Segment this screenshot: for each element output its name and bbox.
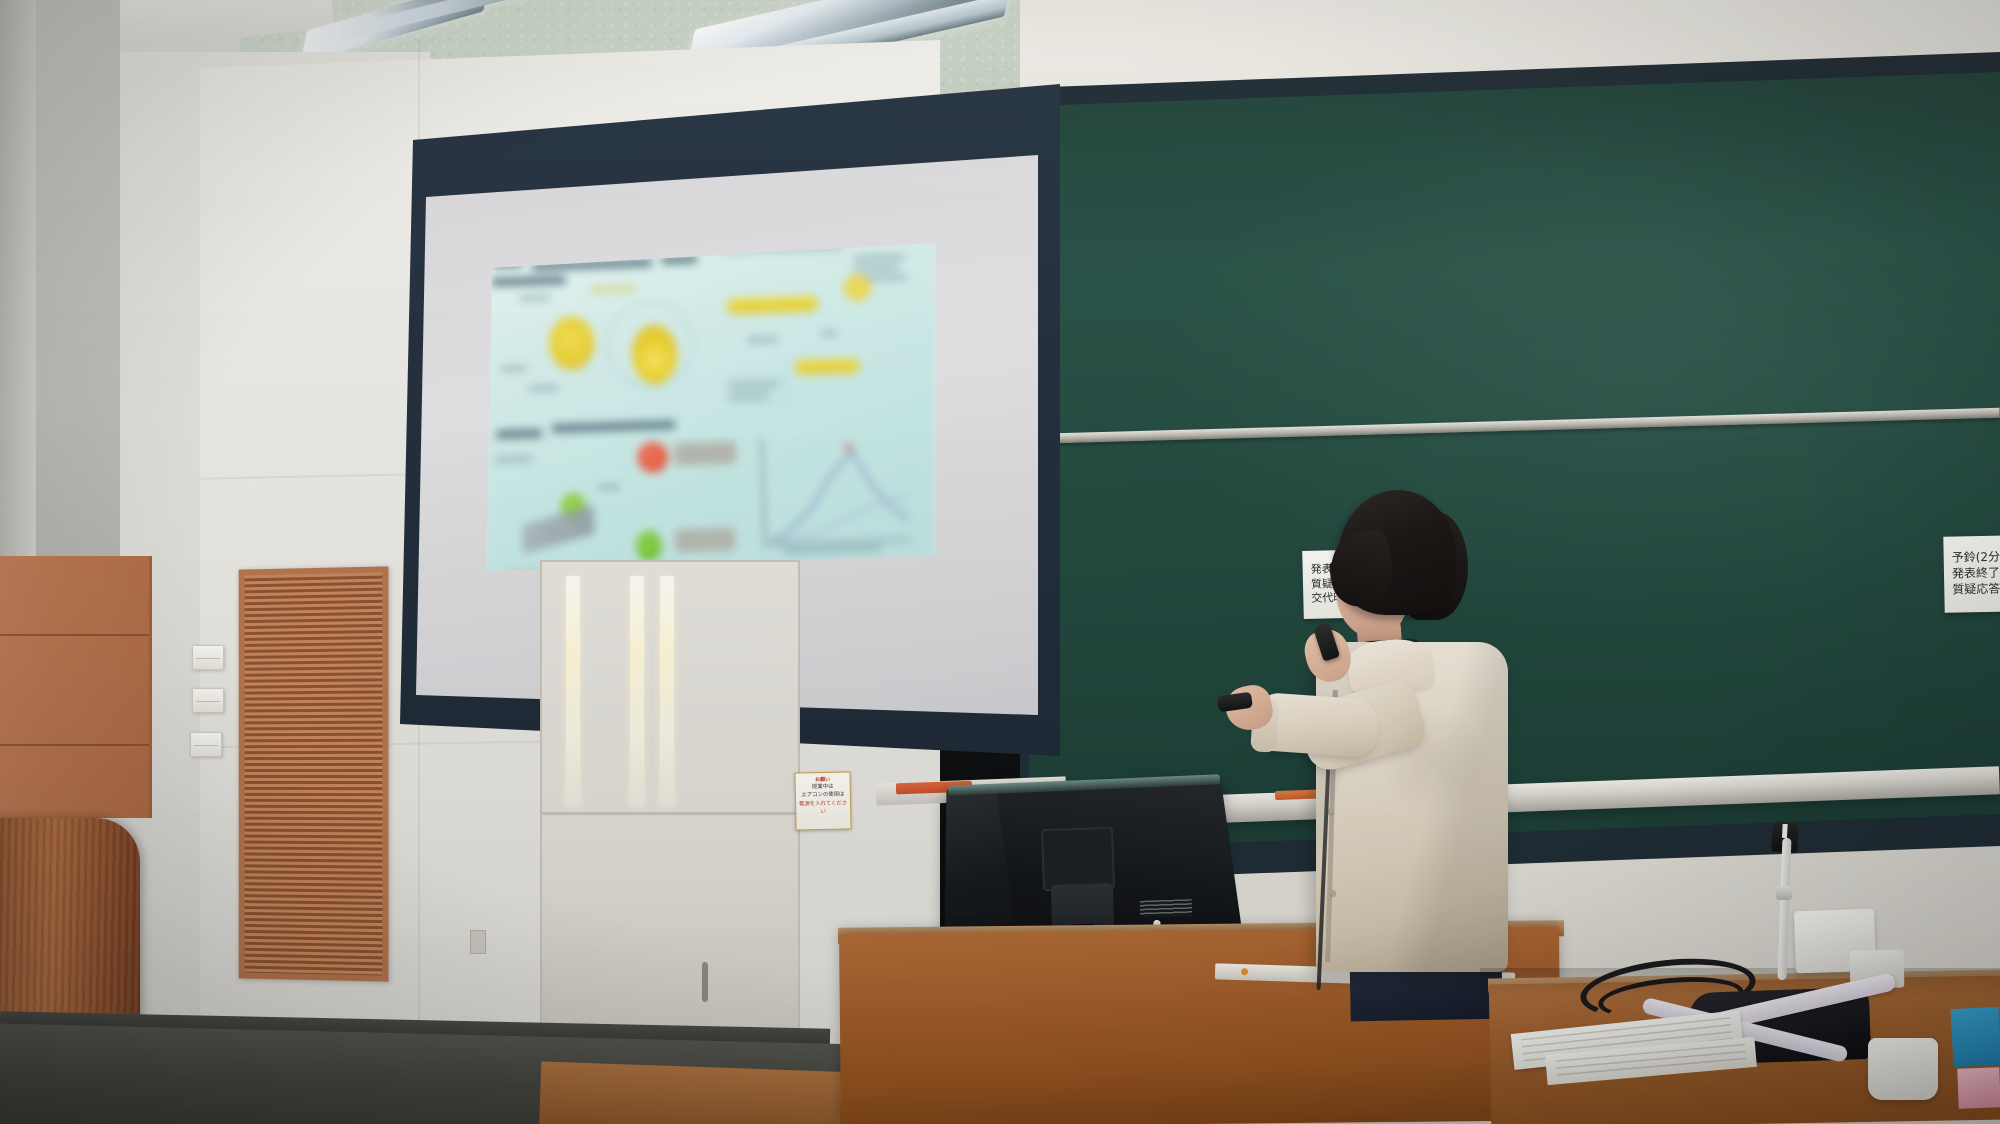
door-glass-panel-3 — [660, 576, 674, 806]
timing-sign-right-line-3: 質疑応答終了 — [1952, 581, 2000, 598]
air-conditioning-notice: お願い 授業中は エアコンの使用は 電源を入れてください — [794, 771, 851, 830]
white-round-container — [1868, 1038, 1938, 1100]
wooden-louver-vent-panel — [239, 566, 389, 981]
slide-highlight-2 — [795, 359, 859, 374]
slide-highlight-1 — [727, 296, 818, 313]
blue-carton — [1951, 1007, 2000, 1067]
monitor-rating-label — [1140, 899, 1193, 917]
light-switch-plate-2[interactable] — [192, 688, 224, 713]
louver-slats — [245, 573, 383, 976]
left-wall-corner — [0, 0, 36, 560]
slide-red-icon — [637, 441, 669, 473]
door-kickplate — [470, 930, 486, 954]
rear-double-door[interactable] — [540, 560, 800, 1060]
jacket-button-3 — [1330, 890, 1336, 896]
pink-carton — [1957, 1067, 2000, 1108]
slide-content — [486, 243, 936, 575]
student-presenter — [1280, 490, 1610, 1010]
slide-yellow-cell-3 — [844, 274, 872, 302]
light-switch-plate-1[interactable] — [192, 645, 224, 670]
monitor-vesa-plate — [1041, 827, 1115, 891]
wooden-wall-panel — [0, 556, 152, 818]
door-mid-rail — [542, 812, 802, 815]
remote-indicator-1 — [1241, 968, 1248, 975]
door-glass-panel-1 — [566, 576, 580, 806]
slide-chart-curve — [765, 440, 913, 548]
notice-warning: 電源を入れてください — [798, 799, 848, 816]
projected-slide — [486, 243, 936, 575]
jacket-button-2 — [1328, 808, 1334, 814]
lecture-hall-scene: 発表時間 質疑応答 交代時間 予鈴(2分前) 発表終了 質疑応答終了 — [0, 0, 2000, 1124]
timing-sign-right-line-1: 予鈴(2分前) — [1952, 550, 2000, 567]
timing-sign-right-line-2: 発表終了 — [1952, 565, 2000, 582]
microphone-stand-collar — [1776, 886, 1792, 900]
slide-green-icon-2 — [636, 530, 663, 562]
timing-sign-right: 予鈴(2分前) 発表終了 質疑応答終了 — [1943, 535, 2000, 613]
slide-yellow-cell-1 — [548, 316, 595, 371]
door-handle[interactable] — [702, 962, 708, 1002]
slide-slab-graphic — [522, 505, 594, 554]
door-glass-panel-2 — [630, 576, 644, 806]
light-switch-plate-3[interactable] — [190, 732, 222, 757]
slide-line-chart — [756, 429, 914, 556]
